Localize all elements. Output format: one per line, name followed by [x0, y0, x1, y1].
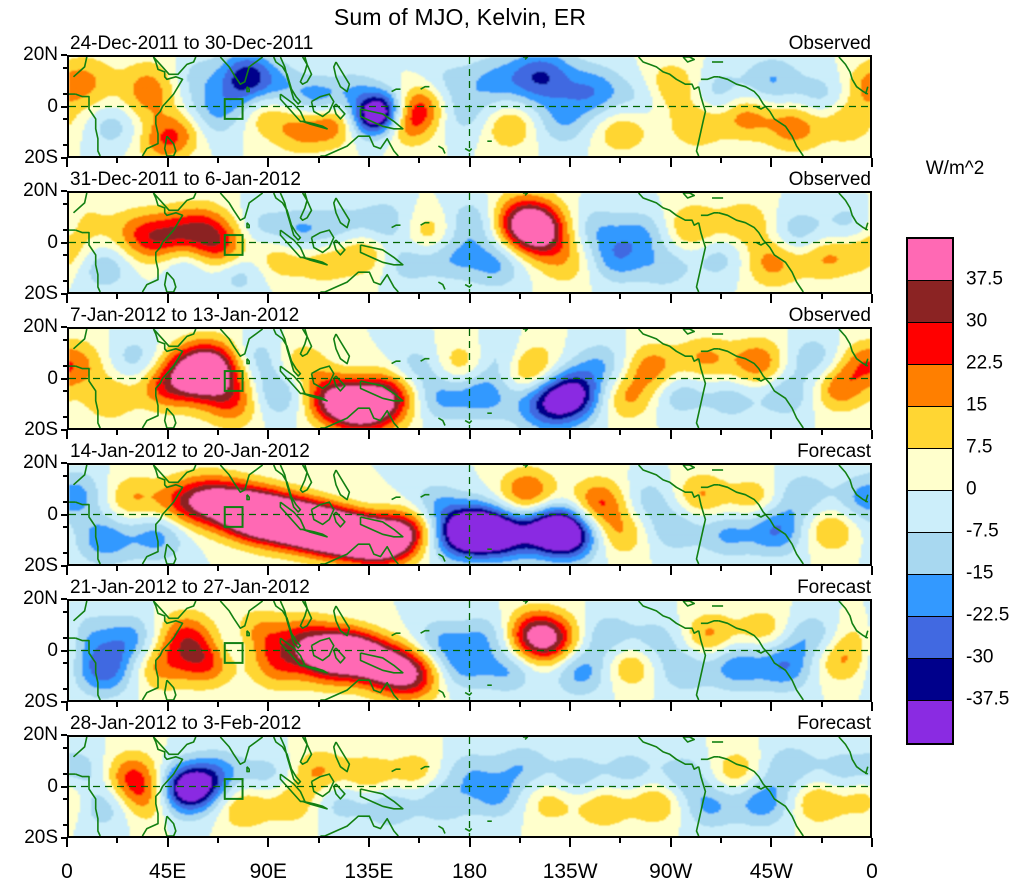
x-axis-minor-tick: [116, 430, 118, 435]
y-axis-label: 0: [0, 641, 58, 660]
y-axis-minor-tick: [63, 798, 67, 800]
panel-date-range-1: 24-Dec-2011 to 30-Dec-2011: [70, 34, 313, 53]
x-axis-tick: [267, 838, 269, 847]
x-axis-minor-tick: [619, 838, 621, 843]
colorbar-swatch: [908, 365, 952, 407]
panel-date-range-2: 31-Dec-2011 to 6-Jan-2012: [70, 170, 301, 189]
y-axis-label: 0: [0, 97, 58, 116]
x-axis-tick: [770, 702, 772, 711]
x-axis-minor-tick: [821, 158, 823, 163]
x-axis-tick: [770, 838, 772, 847]
x-axis-minor-tick: [418, 294, 420, 299]
x-axis-tick: [368, 702, 370, 711]
y-axis-label: 20N: [0, 453, 58, 472]
y-axis-label: 0: [0, 369, 58, 388]
y-axis-tick: [61, 106, 67, 108]
y-axis-label: 20N: [0, 725, 58, 744]
y-axis-tick: [61, 54, 67, 56]
y-axis-minor-tick: [63, 688, 67, 690]
x-axis-minor-tick: [217, 158, 219, 163]
x-axis-label: 90W: [649, 861, 692, 882]
y-axis-minor-tick: [63, 280, 67, 282]
colorbar-tick-label: -22.5: [966, 606, 1009, 625]
x-axis-tick: [871, 158, 873, 167]
panel-status-1: Observed: [789, 34, 871, 53]
x-axis-tick: [469, 430, 471, 439]
x-axis-tick: [770, 294, 772, 303]
x-axis-minor-tick: [217, 294, 219, 299]
contour-field: [69, 329, 870, 428]
x-axis-minor-tick: [619, 294, 621, 299]
panel-status-5: Forecast: [797, 578, 871, 597]
y-axis-minor-tick: [63, 475, 67, 477]
y-axis-minor-tick: [63, 552, 67, 554]
y-axis-minor-tick: [63, 144, 67, 146]
y-axis-label: 20S: [0, 148, 58, 167]
x-axis-minor-tick: [720, 702, 722, 707]
x-axis-tick: [569, 294, 571, 303]
map-panel-1: [67, 55, 872, 158]
x-axis-tick: [569, 158, 571, 167]
colorbar-units-label: W/m^2: [905, 158, 1005, 180]
x-axis-tick: [469, 702, 471, 711]
x-axis-minor-tick: [418, 702, 420, 707]
panel-status-6: Forecast: [797, 714, 871, 733]
x-axis-tick: [66, 702, 68, 711]
y-axis-tick: [61, 514, 67, 516]
colorbar-swatch: [908, 533, 952, 575]
colorbar-tick-label: -7.5: [966, 522, 999, 541]
x-axis-tick: [267, 430, 269, 439]
y-axis-minor-tick: [63, 93, 67, 95]
y-axis-minor-tick: [63, 254, 67, 256]
x-axis-tick: [469, 158, 471, 167]
y-axis-label: 20S: [0, 420, 58, 439]
x-axis-label: 135E: [344, 861, 393, 882]
y-axis-minor-tick: [63, 637, 67, 639]
y-axis-minor-tick: [63, 611, 67, 613]
x-axis-tick: [66, 158, 68, 167]
y-axis-minor-tick: [63, 203, 67, 205]
chart-root: Sum of MJO, Kelvin, ER 24-Dec-2011 to 30…: [0, 0, 1031, 889]
y-axis-minor-tick: [63, 526, 67, 528]
x-axis-tick: [267, 702, 269, 711]
contour-field: [69, 737, 870, 836]
x-axis-label: 45W: [750, 861, 793, 882]
y-axis-label: 20S: [0, 828, 58, 847]
x-axis-minor-tick: [418, 566, 420, 571]
x-axis-minor-tick: [720, 430, 722, 435]
x-axis-tick: [670, 294, 672, 303]
y-axis-minor-tick: [63, 67, 67, 69]
y-axis-minor-tick: [63, 390, 67, 392]
x-axis-tick: [871, 430, 873, 439]
map-panel-3: [67, 327, 872, 430]
x-axis-tick: [569, 702, 571, 711]
map-panel-5: [67, 599, 872, 702]
x-axis-minor-tick: [217, 702, 219, 707]
x-axis-minor-tick: [318, 158, 320, 163]
x-axis-minor-tick: [418, 430, 420, 435]
y-axis-minor-tick: [63, 662, 67, 664]
map-panel-6: [67, 735, 872, 838]
y-axis-label: 20S: [0, 284, 58, 303]
x-axis-minor-tick: [217, 838, 219, 843]
x-axis-minor-tick: [619, 702, 621, 707]
x-axis-tick: [167, 566, 169, 575]
x-axis-tick: [871, 702, 873, 711]
contour-field: [69, 193, 870, 292]
colorbar-tick-label: -15: [966, 564, 993, 583]
x-axis-minor-tick: [519, 158, 521, 163]
x-axis-tick: [167, 838, 169, 847]
x-axis-tick: [267, 566, 269, 575]
y-axis-label: 20N: [0, 181, 58, 200]
x-axis-minor-tick: [418, 838, 420, 843]
y-axis-label: 0: [0, 233, 58, 252]
x-axis-minor-tick: [821, 838, 823, 843]
x-axis-tick: [368, 838, 370, 847]
x-axis-tick: [66, 838, 68, 847]
colorbar-tick-label: -37.5: [966, 690, 1009, 709]
x-axis-minor-tick: [519, 294, 521, 299]
x-axis-minor-tick: [519, 702, 521, 707]
y-axis-label: 20S: [0, 692, 58, 711]
contour-field: [69, 57, 870, 156]
x-axis-tick: [770, 430, 772, 439]
x-axis-label: 135W: [543, 861, 598, 882]
x-axis-minor-tick: [519, 566, 521, 571]
x-axis-tick: [670, 158, 672, 167]
y-axis-tick: [61, 378, 67, 380]
y-axis-tick: [61, 650, 67, 652]
x-axis-tick: [569, 838, 571, 847]
x-axis-minor-tick: [619, 158, 621, 163]
panel-date-range-4: 14-Jan-2012 to 20-Jan-2012: [70, 442, 310, 461]
x-axis-minor-tick: [720, 566, 722, 571]
colorbar-swatch: [908, 407, 952, 449]
x-axis-tick: [368, 158, 370, 167]
colorbar-swatch: [908, 491, 952, 533]
x-axis-tick: [469, 838, 471, 847]
colorbar-swatch: [908, 659, 952, 701]
x-axis-minor-tick: [217, 566, 219, 571]
y-axis-tick: [61, 598, 67, 600]
y-axis-label: 0: [0, 777, 58, 796]
colorbar-swatch: [908, 701, 952, 743]
x-axis-minor-tick: [217, 430, 219, 435]
x-axis-label: 90E: [250, 861, 287, 882]
x-axis-minor-tick: [821, 566, 823, 571]
y-axis-label: 20S: [0, 556, 58, 575]
y-axis-tick: [61, 326, 67, 328]
x-axis-minor-tick: [318, 838, 320, 843]
x-axis-minor-tick: [821, 702, 823, 707]
y-axis-minor-tick: [63, 773, 67, 775]
panel-status-3: Observed: [789, 306, 871, 325]
colorbar-tick-label: 30: [966, 312, 987, 331]
x-axis-minor-tick: [720, 158, 722, 163]
x-axis-tick: [267, 158, 269, 167]
x-axis-label: 0: [61, 861, 73, 882]
x-axis-tick: [167, 430, 169, 439]
x-axis-tick: [670, 566, 672, 575]
panel-date-range-6: 28-Jan-2012 to 3-Feb-2012: [70, 714, 301, 733]
x-axis-tick: [569, 430, 571, 439]
y-axis-label: 20N: [0, 45, 58, 64]
y-axis-tick: [61, 734, 67, 736]
x-axis-minor-tick: [519, 838, 521, 843]
y-axis-minor-tick: [63, 501, 67, 503]
x-axis-label: 0: [866, 861, 878, 882]
map-panel-2: [67, 191, 872, 294]
colorbar: [906, 237, 954, 745]
colorbar-swatch: [908, 617, 952, 659]
y-axis-tick: [61, 190, 67, 192]
x-axis-minor-tick: [720, 838, 722, 843]
colorbar-swatch: [908, 281, 952, 323]
x-axis-tick: [770, 566, 772, 575]
y-axis-minor-tick: [63, 416, 67, 418]
y-axis-tick: [61, 242, 67, 244]
y-axis-minor-tick: [63, 339, 67, 341]
x-axis-tick: [469, 294, 471, 303]
x-axis-minor-tick: [318, 430, 320, 435]
x-axis-minor-tick: [720, 294, 722, 299]
colorbar-swatch: [908, 575, 952, 617]
x-axis-tick: [368, 430, 370, 439]
x-axis-minor-tick: [116, 702, 118, 707]
x-axis-tick: [871, 294, 873, 303]
y-axis-minor-tick: [63, 824, 67, 826]
y-axis-minor-tick: [63, 118, 67, 120]
colorbar-tick-label: 0: [966, 480, 977, 499]
x-axis-tick: [770, 158, 772, 167]
x-axis-minor-tick: [318, 294, 320, 299]
x-axis-minor-tick: [116, 158, 118, 163]
x-axis-tick: [368, 294, 370, 303]
x-axis-tick: [66, 430, 68, 439]
colorbar-tick-label: 7.5: [966, 438, 992, 457]
x-axis-tick: [167, 702, 169, 711]
panel-date-range-5: 21-Jan-2012 to 27-Jan-2012: [70, 578, 310, 597]
x-axis-tick: [670, 430, 672, 439]
x-axis-tick: [469, 566, 471, 575]
colorbar-swatch: [908, 323, 952, 365]
x-axis-tick: [267, 294, 269, 303]
x-axis-label: 180: [452, 861, 487, 882]
x-axis-minor-tick: [519, 430, 521, 435]
colorbar-tick-label: 37.5: [966, 270, 1003, 289]
x-axis-minor-tick: [619, 430, 621, 435]
x-axis-tick: [66, 566, 68, 575]
x-axis-tick: [167, 294, 169, 303]
x-axis-minor-tick: [821, 294, 823, 299]
colorbar-tick-label: -30: [966, 648, 993, 667]
x-axis-label: 45E: [149, 861, 186, 882]
y-axis-label: 20N: [0, 317, 58, 336]
x-axis-tick: [569, 566, 571, 575]
y-axis-label: 20N: [0, 589, 58, 608]
x-axis-minor-tick: [418, 158, 420, 163]
y-axis-minor-tick: [63, 747, 67, 749]
colorbar-tick-label: 22.5: [966, 354, 1003, 373]
x-axis-tick: [167, 158, 169, 167]
y-axis-minor-tick: [63, 365, 67, 367]
map-panel-4: [67, 463, 872, 566]
x-axis-minor-tick: [318, 702, 320, 707]
x-axis-minor-tick: [318, 566, 320, 571]
y-axis-tick: [61, 786, 67, 788]
colorbar-tick-label: 15: [966, 396, 987, 415]
x-axis-tick: [871, 838, 873, 847]
x-axis-tick: [670, 838, 672, 847]
x-axis-minor-tick: [821, 430, 823, 435]
colorbar-swatch: [908, 449, 952, 491]
colorbar-swatch: [908, 239, 952, 281]
contour-field: [69, 465, 870, 564]
y-axis-label: 0: [0, 505, 58, 524]
x-axis-tick: [871, 566, 873, 575]
x-axis-minor-tick: [116, 294, 118, 299]
x-axis-tick: [670, 702, 672, 711]
x-axis-minor-tick: [619, 566, 621, 571]
x-axis-minor-tick: [116, 566, 118, 571]
contour-field: [69, 601, 870, 700]
panel-date-range-3: 7-Jan-2012 to 13-Jan-2012: [70, 306, 299, 325]
x-axis-minor-tick: [116, 838, 118, 843]
panel-status-2: Observed: [789, 170, 871, 189]
y-axis-tick: [61, 462, 67, 464]
x-axis-tick: [368, 566, 370, 575]
y-axis-minor-tick: [63, 229, 67, 231]
panel-status-4: Forecast: [797, 442, 871, 461]
page-title: Sum of MJO, Kelvin, ER: [0, 4, 920, 31]
x-axis-tick: [66, 294, 68, 303]
